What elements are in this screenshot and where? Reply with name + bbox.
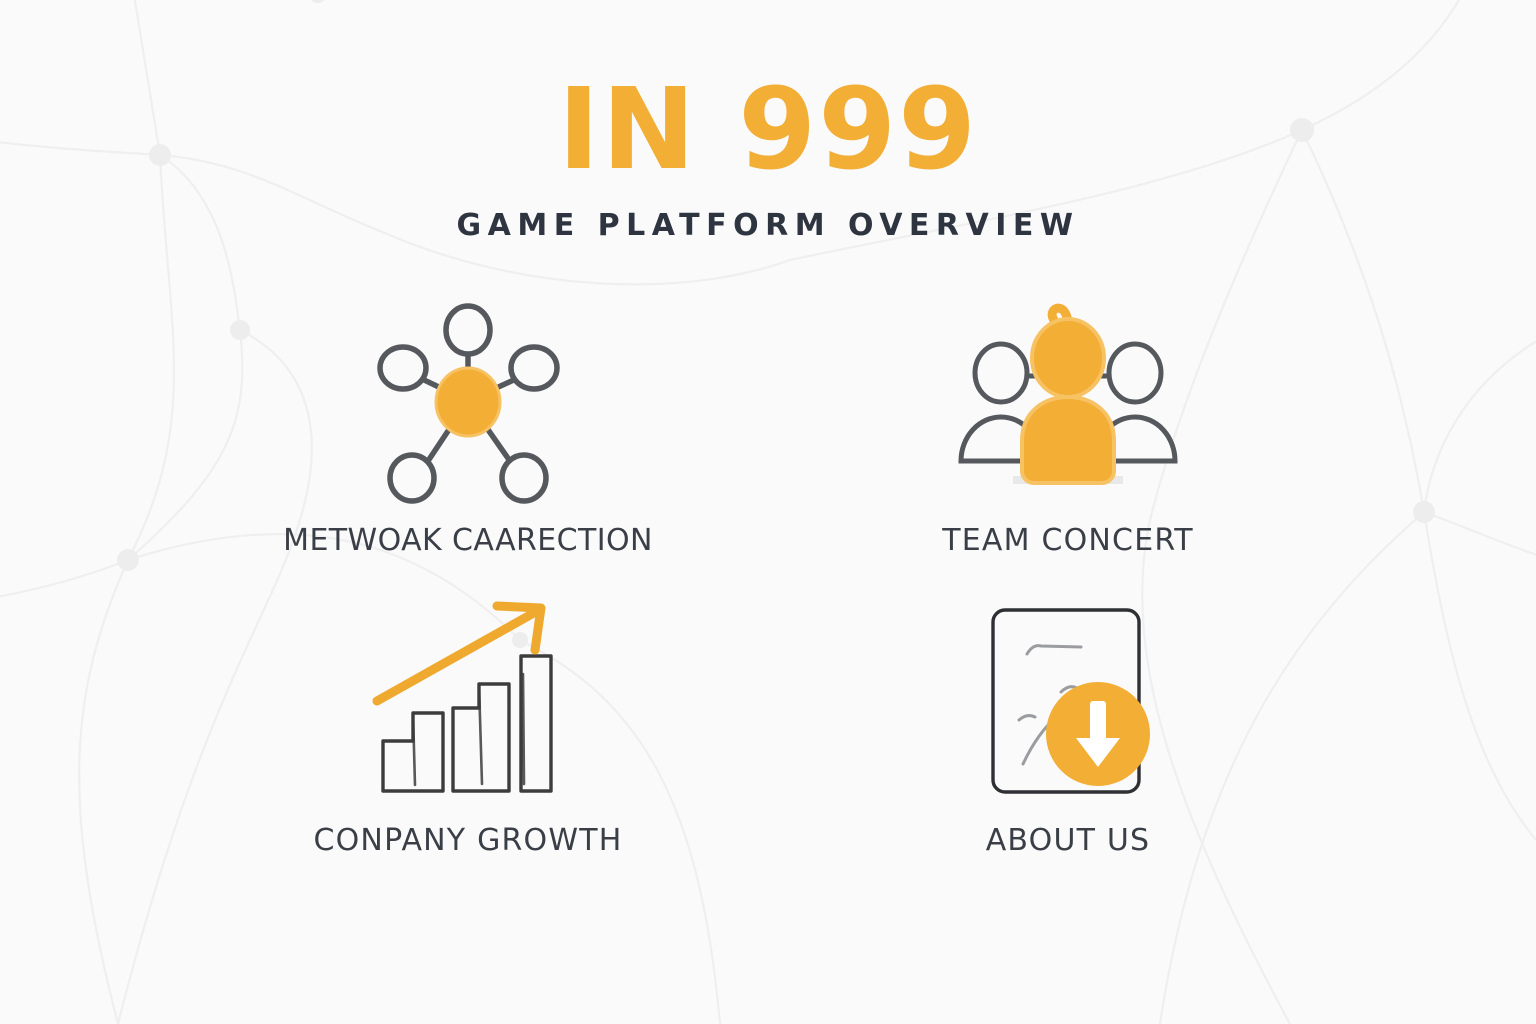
feature-label-about-us: ABOUT US xyxy=(986,823,1151,858)
poster-canvas: IN 999 GAME PLATFORM OVERVIEW xyxy=(0,0,1536,1024)
document-download-icon xyxy=(961,596,1176,811)
feature-item-company-growth[interactable]: CONPANY GROWTH xyxy=(168,596,768,896)
network-hub-icon xyxy=(368,296,568,511)
page-title: IN 999 xyxy=(0,74,1536,186)
feature-item-network-connection[interactable]: METWOAK CAARECTION xyxy=(168,296,768,596)
feature-label-team-concert: TEAM CONCERT xyxy=(942,523,1194,558)
feature-label-company-growth: CONPANY GROWTH xyxy=(313,823,622,858)
header: IN 999 GAME PLATFORM OVERVIEW xyxy=(0,0,1536,243)
feature-item-team-concert[interactable]: TEAM CONCERT xyxy=(768,296,1368,596)
page-subtitle: GAME PLATFORM OVERVIEW xyxy=(0,208,1536,243)
feature-grid: METWOAK CAARECTION xyxy=(168,296,1368,896)
bar-chart-growth-icon xyxy=(361,596,576,811)
feature-label-network-connection: METWOAK CAARECTION xyxy=(283,523,653,558)
team-people-icon xyxy=(953,296,1183,511)
feature-item-about-us[interactable]: ABOUT US xyxy=(768,596,1368,896)
